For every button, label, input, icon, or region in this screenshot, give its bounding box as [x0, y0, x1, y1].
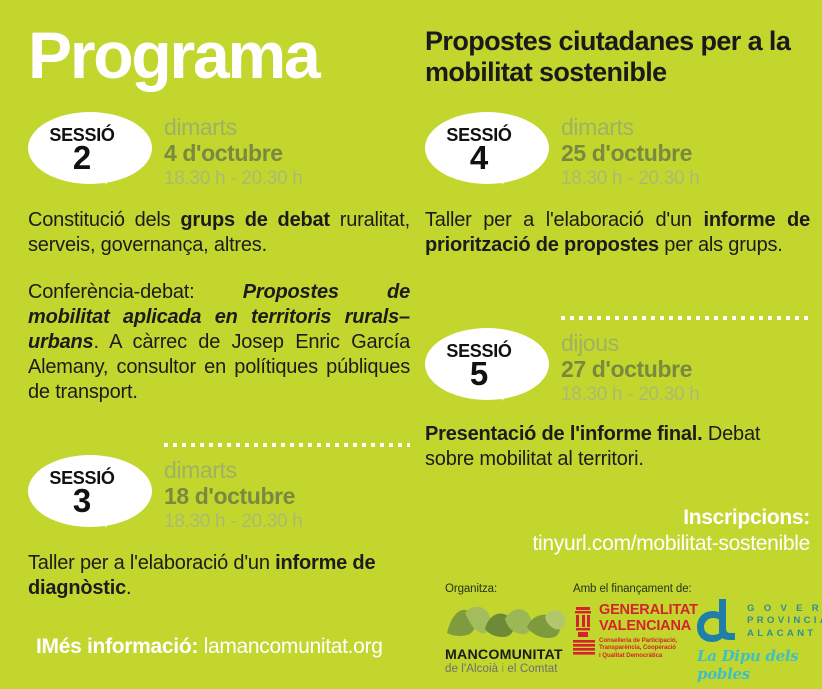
session-block-5: SESSIÓ 5 dijous 27 d'octubre 18.30 h - 2…	[425, 316, 810, 472]
dipu-line2: PROVINCIAL	[747, 615, 822, 627]
session-schedule: dimarts 18 d'octubre 18.30 h - 20.30 h	[164, 457, 414, 533]
session-time: 18.30 h - 20.30 h	[164, 510, 414, 533]
generalitat-sub2: Transparència, Cooperació	[599, 644, 698, 651]
text-run: Presentació de l'informe final.	[425, 423, 703, 445]
session-paragraph: Constitució dels grups de debat ruralita…	[28, 208, 410, 258]
organizer-label: Organitza:	[445, 583, 575, 595]
manco-sub-a: de l'Alcoià	[445, 663, 501, 675]
left-column: Programa SESSIÓ 2 dimarts 4 d'octubre 18…	[28, 0, 410, 689]
generalitat-crown-flag-icon	[573, 605, 595, 657]
generalitat-text: GENERALITAT VALENCIANA Conselleria de Pa…	[599, 603, 698, 659]
poster-canvas: Programa SESSIÓ 2 dimarts 4 d'octubre 18…	[0, 0, 822, 689]
page-title: Programa	[28, 19, 319, 91]
text-run: per als grups.	[659, 234, 783, 256]
dipu-monogram-icon	[695, 597, 741, 645]
session-badge-bubble: SESSIÓ 3	[28, 455, 152, 531]
session-day: dimarts	[164, 114, 414, 140]
session-paragraph: Taller per a l'elaboració d'un informe d…	[425, 208, 810, 258]
session-day: dimarts	[561, 114, 811, 140]
signup-label: Inscripcions:	[425, 505, 810, 531]
signup-url[interactable]: tinyurl.com/mobilitat-sostenible	[425, 531, 810, 557]
mancomunitat-mark-icon	[445, 599, 567, 645]
generalitat-line2: VALENCIANA	[599, 619, 698, 635]
section-divider	[164, 443, 410, 447]
dipu-slogan: La Dipu dels pobles	[697, 647, 822, 683]
signup-block[interactable]: Inscripcions: tinyurl.com/mobilitat-sost…	[425, 505, 810, 557]
dipu-line3: ALACANT	[747, 628, 822, 640]
session-block-3: SESSIÓ 3 dimarts 18 d'octubre 18.30 h - …	[28, 443, 410, 601]
session-header: SESSIÓ 5 dijous 27 d'octubre 18.30 h - 2…	[425, 328, 810, 408]
text-run: .	[126, 577, 131, 599]
session-header: SESSIÓ 3 dimarts 18 d'octubre 18.30 h - …	[28, 455, 410, 535]
more-info-url[interactable]: lamancomunitat.org	[198, 635, 383, 658]
session-block-4: SESSIÓ 4 dimarts 25 d'octubre 18.30 h - …	[425, 112, 810, 258]
more-info-label: IMés informació:	[36, 635, 198, 658]
more-info-line[interactable]: IMés informació: lamancomunitat.org	[36, 634, 418, 660]
session-schedule: dimarts 25 d'octubre 18.30 h - 20.30 h	[561, 114, 811, 190]
organizer-logo-block: Organitza: MANCOMUNITAT de l'Alcoià i el…	[445, 583, 575, 676]
text-run: Taller per a l'elaboració d'un	[425, 209, 703, 231]
session-header: SESSIÓ 2 dimarts 4 d'octubre 18.30 h - 2…	[28, 112, 410, 192]
text-run: Taller per a l'elaboració d'un	[28, 552, 275, 574]
session-badge-bubble: SESSIÓ 5	[425, 328, 549, 404]
session-date: 4 d'octubre	[164, 140, 414, 167]
session-badge-bubble: SESSIÓ 4	[425, 112, 549, 188]
session-day: dimarts	[164, 457, 414, 483]
session-badge-number: 4	[425, 141, 533, 175]
session-badge-number: 2	[28, 141, 136, 175]
session-badge-number: 5	[425, 357, 533, 391]
footer: Organitza: MANCOMUNITAT de l'Alcoià i el…	[425, 583, 815, 689]
session-time: 18.30 h - 20.30 h	[561, 383, 811, 406]
text-run: Constitució dels	[28, 209, 180, 231]
session-schedule: dijous 27 d'octubre 18.30 h - 20.30 h	[561, 330, 811, 406]
session-badge-bubble: SESSIÓ 2	[28, 112, 152, 188]
session-block-2: SESSIÓ 2 dimarts 4 d'octubre 18.30 h - 2…	[28, 112, 410, 405]
dipu-text: G O V E R N PROVINCIAL ALACANT	[747, 603, 822, 640]
session-time: 18.30 h - 20.30 h	[561, 167, 811, 190]
session-paragraph: Taller per a l'elaboració d'un informe d…	[28, 551, 410, 601]
session-date: 25 d'octubre	[561, 140, 811, 167]
subtitle-heading: Propostes ciutadanes per a la mobilitat …	[425, 26, 810, 88]
dipu-line1: G O V E R N	[747, 603, 822, 615]
text-run: grups de debat	[180, 209, 330, 231]
session-paragraph: Presentació de l'informe final. Debat so…	[425, 422, 810, 472]
session-time: 18.30 h - 20.30 h	[164, 167, 414, 190]
text-run: Conferència-debat:	[28, 281, 243, 303]
funding-label: Amb el finançament de:	[573, 583, 822, 595]
mancomunitat-subtitle: de l'Alcoià i el Comtat	[445, 663, 575, 676]
mancomunitat-name: MANCOMUNITAT	[445, 647, 575, 663]
session-schedule: dimarts 4 d'octubre 18.30 h - 20.30 h	[164, 114, 414, 190]
session-header: SESSIÓ 4 dimarts 25 d'octubre 18.30 h - …	[425, 112, 810, 192]
generalitat-line1: GENERALITAT	[599, 603, 698, 619]
session-badge-number: 3	[28, 484, 136, 518]
session-date: 18 d'octubre	[164, 483, 414, 510]
generalitat-sub1: Conselleria de Participació,	[599, 637, 698, 644]
funding-logo-block: Amb el finançament de:	[573, 583, 822, 595]
generalitat-sub3: i Qualitat Democràtica	[599, 652, 698, 659]
session-date: 27 d'octubre	[561, 356, 811, 383]
session-day: dijous	[561, 330, 811, 356]
manco-sub-b: el Comtat	[504, 663, 557, 675]
section-divider	[561, 316, 810, 320]
session-paragraph: Conferència-debat: Propostes de mobilita…	[28, 280, 410, 405]
